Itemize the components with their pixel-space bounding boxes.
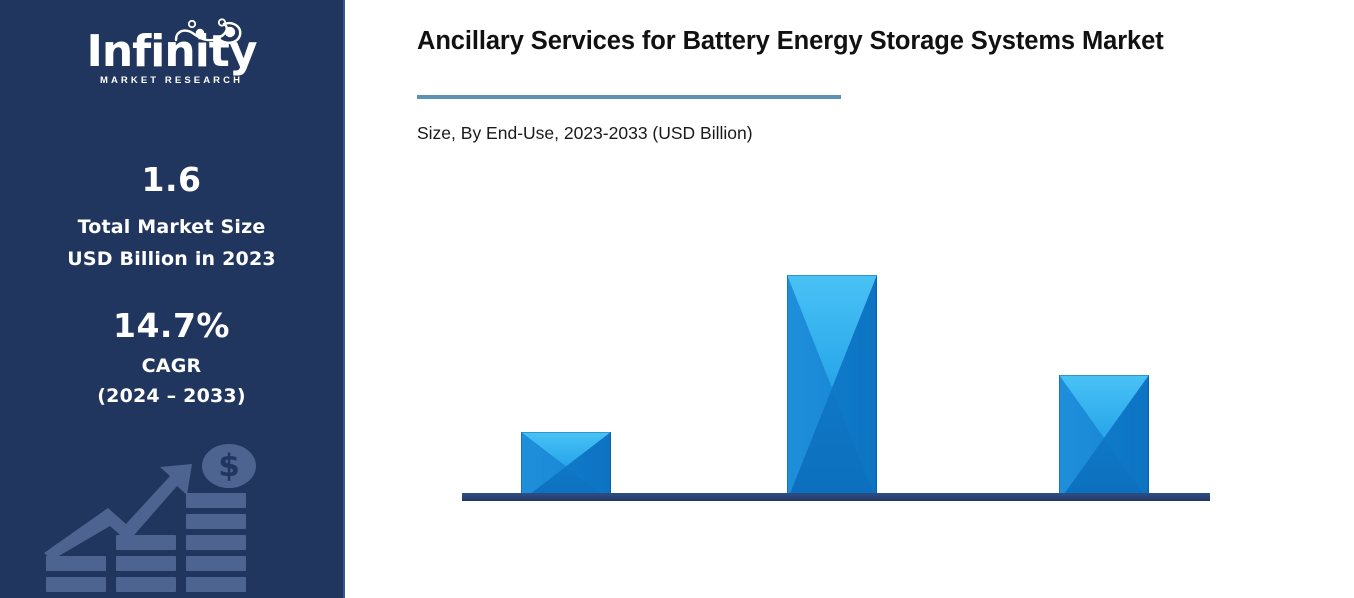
bar-industrial[interactable] (521, 432, 611, 501)
svg-text:$: $ (218, 448, 240, 484)
logo-wordmark: Infinity (82, 30, 262, 74)
logo-tagline: MARKET RESEARCH (82, 75, 262, 86)
brand-logo: Infinity MARKET RESEARCH (0, 18, 343, 90)
cagr-period-line2: (2024 – 2033) (0, 385, 343, 407)
growth-arrow-bars-dollar-icon: $ (40, 438, 305, 598)
logo-mark: Infinity MARKET RESEARCH (82, 18, 262, 90)
cagr-label-line1: CAGR (0, 355, 343, 377)
cagr-value: 14.7% (0, 306, 343, 345)
market-report-infographic: Infinity MARKET RESEARCH 1.6 Total Marke… (0, 0, 1354, 598)
bar-chart: xx.xx% Industrial xx.xx% (345, 0, 1354, 598)
chart-panel: Ancillary Services for Battery Energy St… (345, 0, 1354, 598)
bar-commercial[interactable] (1059, 375, 1149, 501)
total-market-size-label-line2: USD Billion in 2023 (0, 248, 343, 270)
chart-baseline (462, 493, 1210, 501)
total-market-size-label-line1: Total Market Size (0, 216, 343, 238)
sidebar-panel: Infinity MARKET RESEARCH 1.6 Total Marke… (0, 0, 343, 598)
total-market-size-value: 1.6 (0, 160, 343, 199)
bar-residential[interactable] (787, 275, 877, 501)
